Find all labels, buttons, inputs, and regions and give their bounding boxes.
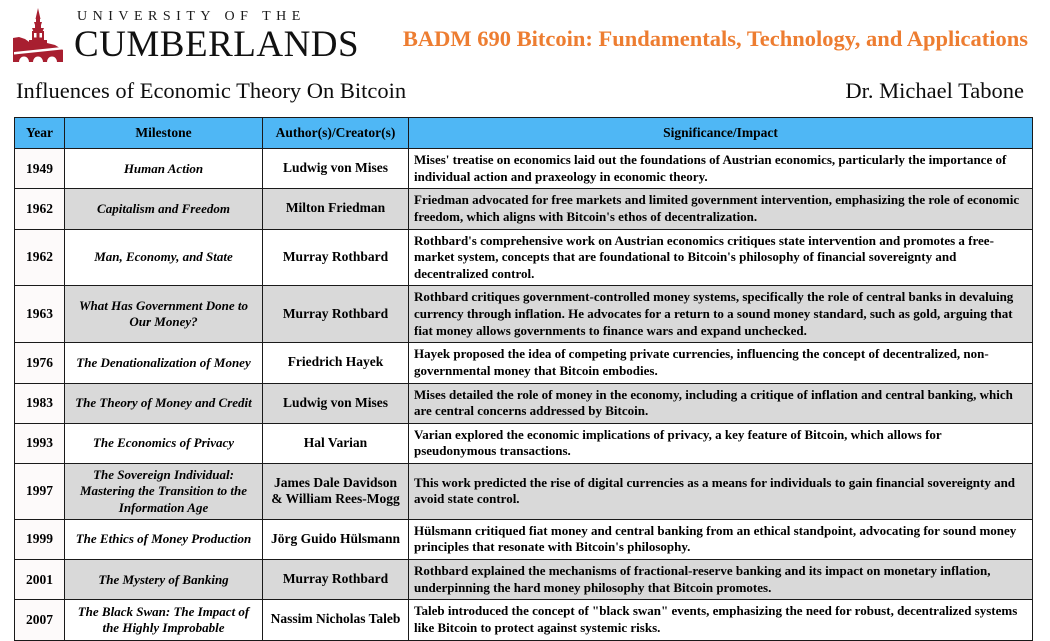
university-logo: UNIVERSITY OF THE CUMBERLANDS: [0, 0, 359, 64]
cell-author: Ludwig von Mises: [263, 383, 409, 423]
cell-milestone: Capitalism and Freedom: [65, 189, 263, 229]
table-header-row: Year Milestone Author(s)/Creator(s) Sign…: [15, 118, 1033, 149]
cell-author: James Dale Davidson & William Rees-Mogg: [263, 464, 409, 520]
cell-milestone: The Mystery of Banking: [65, 560, 263, 600]
cell-significance: Mises' treatise on economics laid out th…: [409, 149, 1033, 189]
table-row: 1997The Sovereign Individual: Mastering …: [15, 464, 1033, 520]
cell-milestone: The Denationalization of Money: [65, 343, 263, 383]
cell-year: 1999: [15, 519, 65, 559]
cell-author: Friedrich Hayek: [263, 343, 409, 383]
cell-author: Murray Rothbard: [263, 560, 409, 600]
column-header-milestone: Milestone: [65, 118, 263, 149]
cell-year: 1976: [15, 343, 65, 383]
table-row: 1949Human ActionLudwig von MisesMises' t…: [15, 149, 1033, 189]
page-title: Influences of Economic Theory On Bitcoin: [16, 78, 406, 104]
cell-milestone: Man, Economy, and State: [65, 229, 263, 286]
table-row: 2007The Black Swan: The Impact of the Hi…: [15, 600, 1033, 640]
cell-author: Murray Rothbard: [263, 286, 409, 343]
cell-milestone: The Theory of Money and Credit: [65, 383, 263, 423]
cell-year: 2007: [15, 600, 65, 640]
table-body: 1949Human ActionLudwig von MisesMises' t…: [15, 149, 1033, 641]
cell-year: 1997: [15, 464, 65, 520]
cell-significance: Friedman advocated for free markets and …: [409, 189, 1033, 229]
cell-significance: Rothbard explained the mechanisms of fra…: [409, 560, 1033, 600]
cell-significance: Hülsmann critiqued fiat money and centra…: [409, 519, 1033, 559]
cell-author: Hal Varian: [263, 423, 409, 463]
column-header-significance: Significance/Impact: [409, 118, 1033, 149]
table-row: 1962Capitalism and FreedomMilton Friedma…: [15, 189, 1033, 229]
course-title: BADM 690 Bitcoin: Fundamentals, Technolo…: [359, 0, 1050, 52]
cell-significance: Mises detailed the role of money in the …: [409, 383, 1033, 423]
cell-year: 1962: [15, 189, 65, 229]
table-row: 2001The Mystery of BankingMurray Rothbar…: [15, 560, 1033, 600]
cell-author: Nassim Nicholas Taleb: [263, 600, 409, 640]
cell-year: 1983: [15, 383, 65, 423]
table-row: 1983The Theory of Money and CreditLudwig…: [15, 383, 1033, 423]
column-header-author: Author(s)/Creator(s): [263, 118, 409, 149]
table-head: Year Milestone Author(s)/Creator(s) Sign…: [15, 118, 1033, 149]
cell-year: 1962: [15, 229, 65, 286]
slide-header: UNIVERSITY OF THE CUMBERLANDS BADM 690 B…: [0, 0, 1050, 72]
cell-milestone: What Has Government Done to Our Money?: [65, 286, 263, 343]
cell-milestone: The Ethics of Money Production: [65, 519, 263, 559]
cell-author: Jörg Guido Hülsmann: [263, 519, 409, 559]
cell-year: 1949: [15, 149, 65, 189]
table-row: 1999The Ethics of Money ProductionJörg G…: [15, 519, 1033, 559]
cell-author: Milton Friedman: [263, 189, 409, 229]
cell-milestone: Human Action: [65, 149, 263, 189]
table-row: 1963What Has Government Done to Our Mone…: [15, 286, 1033, 343]
cell-year: 1993: [15, 423, 65, 463]
cell-significance: This work predicted the rise of digital …: [409, 464, 1033, 520]
cell-significance: Rothbard critiques government-controlled…: [409, 286, 1033, 343]
cell-milestone: The Economics of Privacy: [65, 423, 263, 463]
cell-year: 1963: [15, 286, 65, 343]
cell-author: Ludwig von Mises: [263, 149, 409, 189]
cell-milestone: The Sovereign Individual: Mastering the …: [65, 464, 263, 520]
presenter-name: Dr. Michael Tabone: [845, 78, 1024, 104]
table-container: Year Milestone Author(s)/Creator(s) Sign…: [0, 112, 1050, 641]
logo-wordmark: UNIVERSITY OF THE CUMBERLANDS: [74, 10, 359, 63]
cell-significance: Hayek proposed the idea of competing pri…: [409, 343, 1033, 383]
logo-line-cumberlands: CUMBERLANDS: [74, 26, 359, 63]
cell-significance: Varian explored the economic implication…: [409, 423, 1033, 463]
column-header-year: Year: [15, 118, 65, 149]
logo-line-university: UNIVERSITY OF THE: [77, 10, 359, 24]
influences-table: Year Milestone Author(s)/Creator(s) Sign…: [14, 117, 1033, 641]
cell-significance: Rothbard's comprehensive work on Austria…: [409, 229, 1033, 286]
table-row: 1976The Denationalization of MoneyFriedr…: [15, 343, 1033, 383]
cumberlands-tower-bridge-logo-icon: [12, 8, 64, 64]
cell-milestone: The Black Swan: The Impact of the Highly…: [65, 600, 263, 640]
cell-author: Murray Rothbard: [263, 229, 409, 286]
subtitle-row: Influences of Economic Theory On Bitcoin…: [0, 72, 1050, 112]
cell-significance: Taleb introduced the concept of "black s…: [409, 600, 1033, 640]
table-row: 1962Man, Economy, and StateMurray Rothba…: [15, 229, 1033, 286]
table-row: 1993The Economics of PrivacyHal VarianVa…: [15, 423, 1033, 463]
cell-year: 2001: [15, 560, 65, 600]
